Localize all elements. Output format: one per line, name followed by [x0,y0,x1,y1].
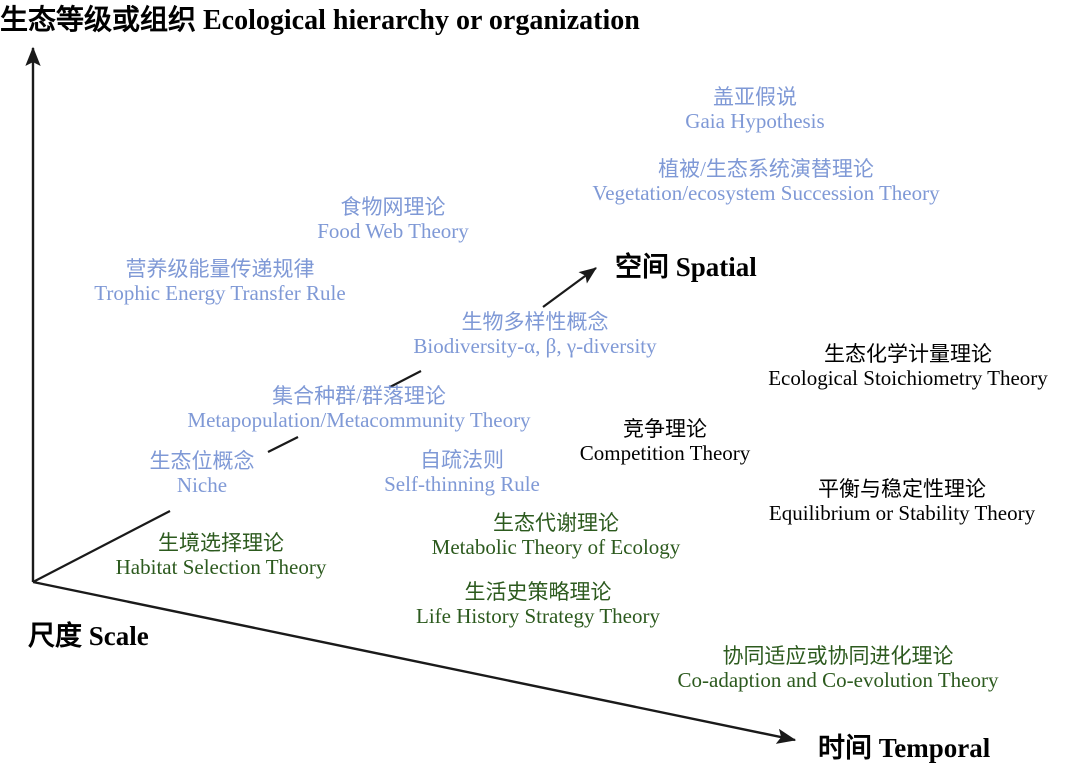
theory-label-co-adaption-co-evolution-theory: 协同适应或协同进化理论Co-adaption and Co-evolution … [678,645,999,692]
theory-label-cn: 生态代谢理论 [432,512,681,536]
theory-label-trophic-energy-transfer-rule: 营养级能量传递规律Trophic Energy Transfer Rule [94,258,345,305]
theory-label-cn: 竞争理论 [580,418,751,442]
theory-label-cn: 生态位概念 [150,450,255,474]
axis-label-temporal: 时间 Temporal [818,726,990,765]
scale-axis-segment-2 [268,437,298,452]
spatial-axis-line [543,268,596,307]
theory-label-en: Life History Strategy Theory [416,605,660,629]
theory-label-en: Equilibrium or Stability Theory [769,502,1035,526]
theory-label-en: Vegetation/ecosystem Succession Theory [592,182,939,206]
axis-label-spatial: 空间 Spatial [615,245,757,284]
theory-label-cn: 自疏法则 [384,449,540,473]
theory-label-life-history-strategy-theory: 生活史策略理论Life History Strategy Theory [416,581,660,628]
theory-label-cn: 植被/生态系统演替理论 [592,158,939,182]
theory-label-competition-theory: 竞争理论Competition Theory [580,418,751,465]
axis-label-scale: 尺度 Scale [28,614,149,653]
theory-label-en: Self-thinning Rule [384,473,540,497]
ecological-theory-diagram: 生态等级或组织 Ecological hierarchy or organiza… [0,0,1069,765]
theory-label-cn: 生态化学计量理论 [768,343,1048,367]
theory-label-equilibrium-stability-theory: 平衡与稳定性理论Equilibrium or Stability Theory [769,478,1035,525]
theory-label-ecological-stoichiometry-theory: 生态化学计量理论Ecological Stoichiometry Theory [768,343,1048,390]
theory-label-en: Metapopulation/Metacommunity Theory [187,409,530,433]
theory-label-self-thinning-rule: 自疏法则Self-thinning Rule [384,449,540,496]
theory-label-en: Gaia Hypothesis [685,110,824,134]
theory-label-cn: 生境选择理论 [116,532,327,556]
theory-label-en: Metabolic Theory of Ecology [432,536,681,560]
theory-label-food-web-theory: 食物网理论Food Web Theory [317,196,469,243]
theory-label-biodiversity-concept: 生物多样性概念Biodiversity-α, β, γ-diversity [413,311,656,358]
theory-label-cn: 集合种群/群落理论 [187,385,530,409]
page-title: 生态等级或组织 Ecological hierarchy or organiza… [0,0,640,38]
theory-label-cn: 平衡与稳定性理论 [769,478,1035,502]
theory-label-cn: 食物网理论 [317,196,469,220]
theory-label-en: Ecological Stoichiometry Theory [768,367,1048,391]
theory-label-vegetation-succession-theory: 植被/生态系统演替理论Vegetation/ecosystem Successi… [592,158,939,205]
theory-label-niche-concept: 生态位概念Niche [150,450,255,497]
theory-label-cn: 生物多样性概念 [413,311,656,335]
theory-label-gaia-hypothesis: 盖亚假说Gaia Hypothesis [685,86,824,133]
theory-label-cn: 营养级能量传递规律 [94,258,345,282]
theory-label-en: Biodiversity-α, β, γ-diversity [413,335,656,359]
theory-label-en: Niche [150,474,255,498]
theory-label-habitat-selection-theory: 生境选择理论Habitat Selection Theory [116,532,327,579]
theory-label-cn: 生活史策略理论 [416,581,660,605]
theory-label-cn: 协同适应或协同进化理论 [678,645,999,669]
theory-label-en: Co-adaption and Co-evolution Theory [678,669,999,693]
theory-label-en: Competition Theory [580,442,751,466]
theory-label-metabolic-theory-of-ecology: 生态代谢理论Metabolic Theory of Ecology [432,512,681,559]
theory-label-cn: 盖亚假说 [685,86,824,110]
theory-label-en: Habitat Selection Theory [116,556,327,580]
theory-label-en: Trophic Energy Transfer Rule [94,282,345,306]
theory-label-en: Food Web Theory [317,220,469,244]
theory-label-metapopulation-metacommunity-theory: 集合种群/群落理论Metapopulation/Metacommunity Th… [187,385,530,432]
